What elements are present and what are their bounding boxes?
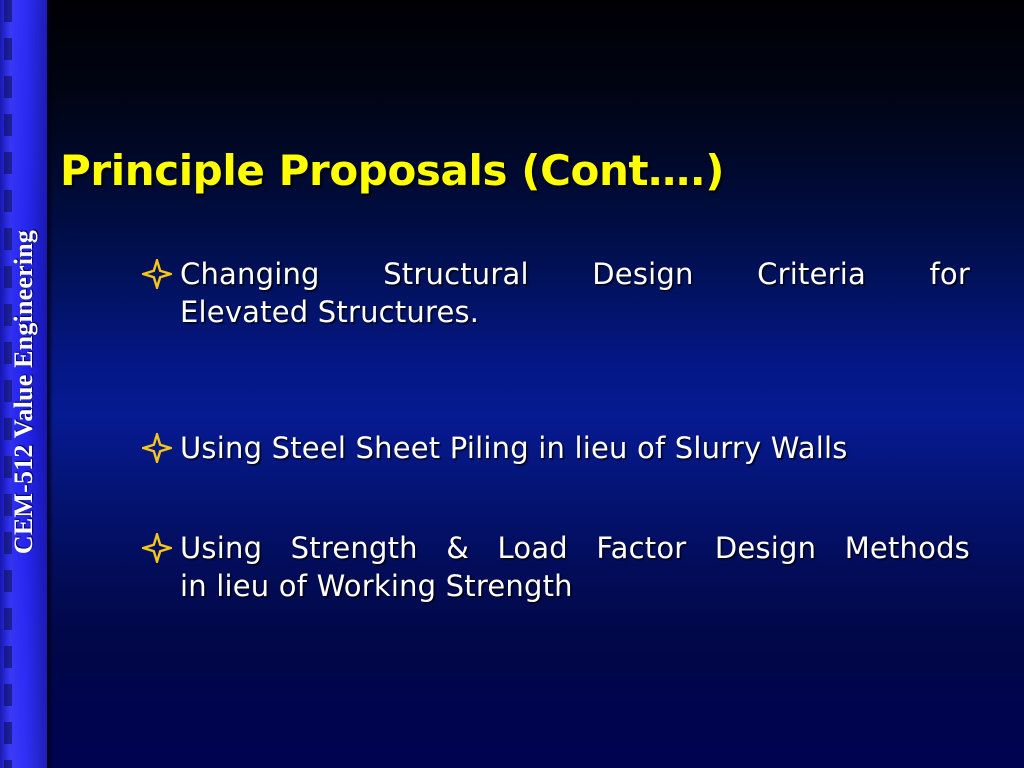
slide-title: Principle Proposals (Cont….)	[60, 147, 724, 195]
bullet-text: Changing Structural Design Criteria for …	[180, 255, 970, 331]
four-point-star-icon	[142, 433, 172, 463]
bullet-list: Changing Structural Design Criteria for …	[140, 255, 970, 605]
four-point-star-icon	[142, 259, 172, 289]
bullet-line: Changing Structural Design Criteria for	[180, 255, 970, 293]
sidebar-brand-band: CEM-512 Value Engineering	[0, 0, 47, 768]
bullet-line: Using Strength & Load Factor Design Meth…	[180, 529, 970, 567]
bullet-line: Using Steel Sheet Piling in lieu of Slur…	[180, 431, 848, 465]
bullet-text: Using Steel Sheet Piling in lieu of Slur…	[180, 431, 848, 465]
bullet-item: Using Strength & Load Factor Design Meth…	[140, 529, 970, 605]
bullet-text: Using Strength & Load Factor Design Meth…	[180, 529, 970, 605]
sidebar-course-label: CEM-512 Value Engineering	[9, 230, 39, 554]
bullet-item: Changing Structural Design Criteria for …	[140, 255, 970, 331]
presentation-slide: CEM-512 Value Engineering Principle Prop…	[0, 0, 1024, 768]
bullet-item: Using Steel Sheet Piling in lieu of Slur…	[140, 429, 970, 467]
bullet-line: in lieu of Working Strength	[180, 567, 970, 605]
four-point-star-icon	[142, 533, 172, 563]
sidebar-edge-shadow	[47, 0, 53, 768]
bullet-line: Elevated Structures.	[180, 293, 970, 331]
